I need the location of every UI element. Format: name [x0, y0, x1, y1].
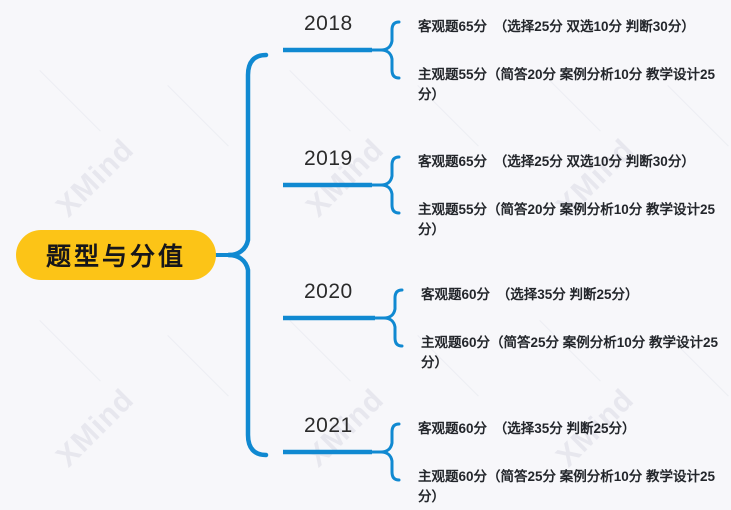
watermark-line [39, 70, 101, 132]
watermark-text: XMind [50, 383, 141, 474]
main-brace-lower [229, 255, 266, 455]
watermark-line [39, 320, 101, 382]
sub-brace-2021-lower [381, 452, 399, 480]
mindmap-canvas[interactable]: XMindXMindXMindXMindXMindXMindXMindXMind… [0, 0, 731, 510]
sub-brace-2019-lower [381, 185, 399, 213]
detail-2020-objective[interactable]: 客观题60分 （选择35分 判断25分） [421, 285, 721, 305]
sub-brace-2020-upper [384, 290, 402, 318]
detail-2021-subjective[interactable]: 主观题60分（简答25分 案例分析10分 教学设计25分） [418, 467, 720, 507]
year-label-2020[interactable]: 2020 [304, 280, 353, 304]
detail-2019-objective[interactable]: 客观题65分 （选择25分 双选10分 判断30分） [418, 152, 718, 172]
sub-brace-2018-lower [381, 50, 399, 78]
year-label-2018[interactable]: 2018 [304, 12, 353, 36]
detail-2021-objective[interactable]: 客观题60分 （选择35分 判断25分） [418, 419, 718, 439]
watermark-line [167, 335, 229, 397]
detail-2018-objective[interactable]: 客观题65分 （选择25分 双选10分 判断30分） [418, 17, 718, 37]
year-label-2019[interactable]: 2019 [304, 147, 353, 171]
sub-brace-2018-upper [381, 22, 399, 50]
watermark-line [289, 320, 351, 382]
watermark-text: XMind [50, 133, 141, 224]
sub-brace-2021-upper [381, 424, 399, 452]
main-brace-upper [229, 55, 266, 255]
detail-2020-subjective[interactable]: 主观题60分（简答25分 案例分析10分 教学设计25分） [421, 333, 721, 373]
watermark-line [167, 85, 229, 147]
sub-brace-2020-lower [384, 318, 402, 346]
detail-2019-subjective[interactable]: 主观题55分（简答20分 案例分析10分 教学设计25分） [418, 200, 720, 240]
detail-2018-subjective[interactable]: 主观题55分（简答20分 案例分析10分 教学设计25分） [418, 65, 720, 105]
sub-brace-2019-upper [381, 157, 399, 185]
root-node[interactable]: 题型与分值 [16, 230, 216, 280]
year-label-2021[interactable]: 2021 [304, 414, 353, 438]
root-node-label: 题型与分值 [46, 237, 186, 273]
watermark-line [289, 70, 351, 132]
